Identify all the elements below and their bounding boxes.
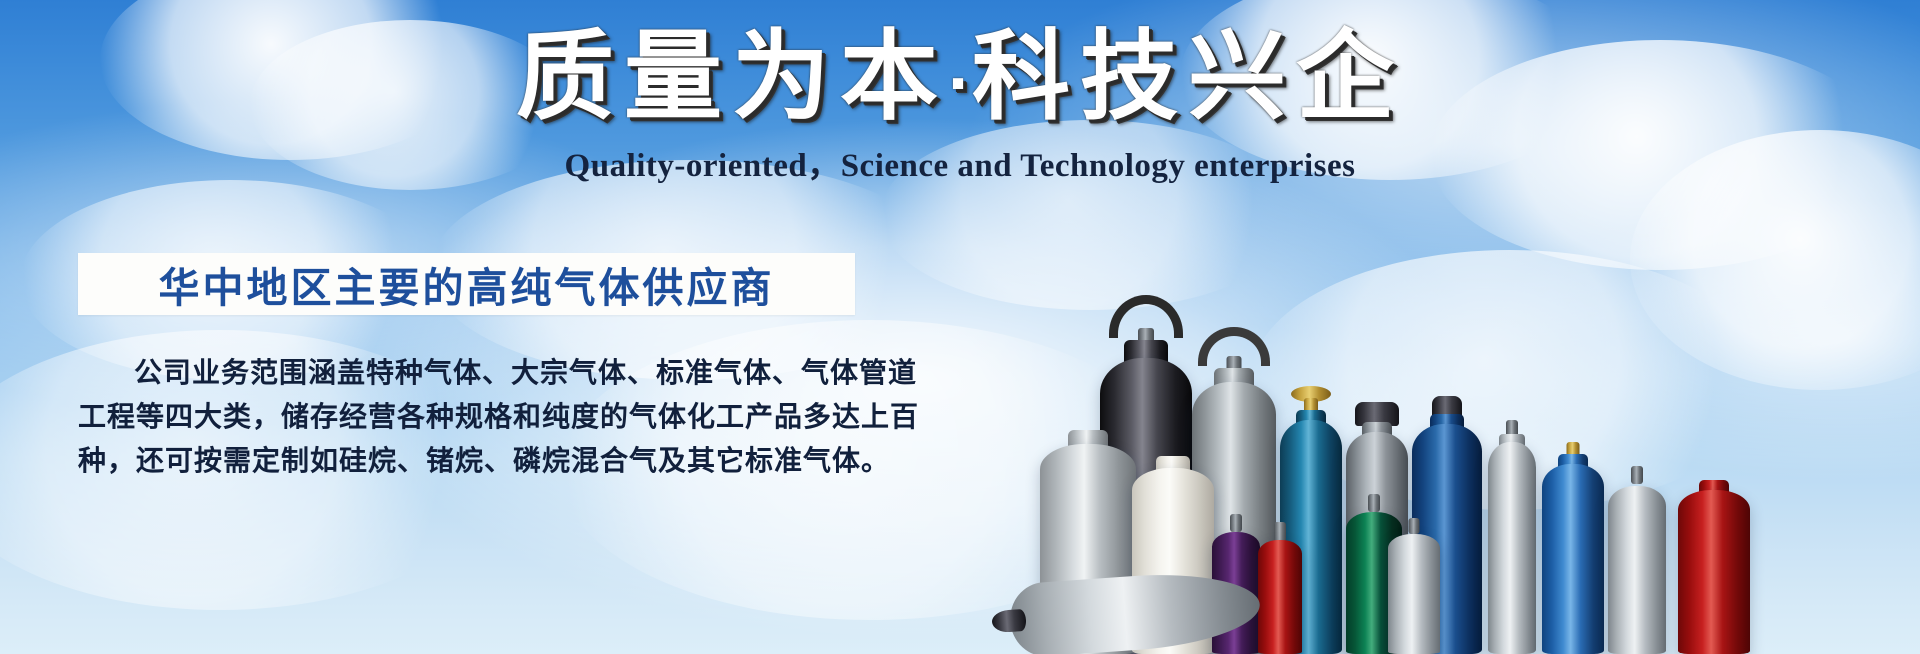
gas-cylinder-group-image: [1150, 150, 1920, 654]
cylinder-body: [1608, 486, 1666, 654]
cylinder-valve-icon: [1409, 518, 1420, 534]
highlight-box-text: 华中地区主要的高纯气体供应商: [159, 254, 775, 314]
banner-paragraph: 公司业务范围涵盖特种气体、大宗气体、标准气体、气体管道 工程等四大类，储存经营各…: [78, 352, 868, 484]
cylinder-body: [1258, 540, 1302, 654]
cylinder-silver-front: [1388, 528, 1440, 654]
promotional-banner: 质量为本·科技兴企 Quality-oriented，Science and T…: [0, 0, 1920, 654]
cylinder-valve-icon: [1274, 522, 1286, 542]
paragraph-line: 工程等四大类，储存经营各种规格和纯度的气体化工产品多达上百: [78, 396, 868, 440]
cylinder-body: [1542, 464, 1604, 654]
cylinder-silver-short: [1608, 478, 1666, 654]
cylinder-body: [1388, 534, 1440, 654]
headline-separator-dot: ·: [948, 44, 972, 124]
cylinder-blue-bright: [1542, 454, 1604, 654]
cylinder-red-small: [1258, 534, 1302, 654]
cylinder-valve-icon: [1230, 514, 1242, 532]
headline-left-phrase: 质量为本: [516, 21, 948, 131]
paragraph-line: 种，还可按需定制如硅烷、锗烷、磷烷混合气及其它标准气体。: [78, 440, 868, 484]
cylinder-valve-icon: [1368, 494, 1380, 512]
paragraph-line: 公司业务范围涵盖特种气体、大宗气体、标准气体、气体管道: [78, 352, 868, 396]
cylinder-body: [1488, 442, 1536, 654]
cylinder-silver-slim: [1488, 432, 1536, 654]
cylinder-red-short: [1678, 484, 1750, 654]
banner-headline: 质量为本·科技兴企: [0, 22, 1920, 132]
headline-right-phrase: 科技兴企: [972, 21, 1404, 131]
cylinder-body: [1678, 490, 1750, 654]
cylinder-valve-icon: [1631, 466, 1643, 484]
highlight-box: 华中地区主要的高纯气体供应商: [78, 253, 855, 315]
cylinder-lying-valve-icon: [991, 609, 1026, 633]
